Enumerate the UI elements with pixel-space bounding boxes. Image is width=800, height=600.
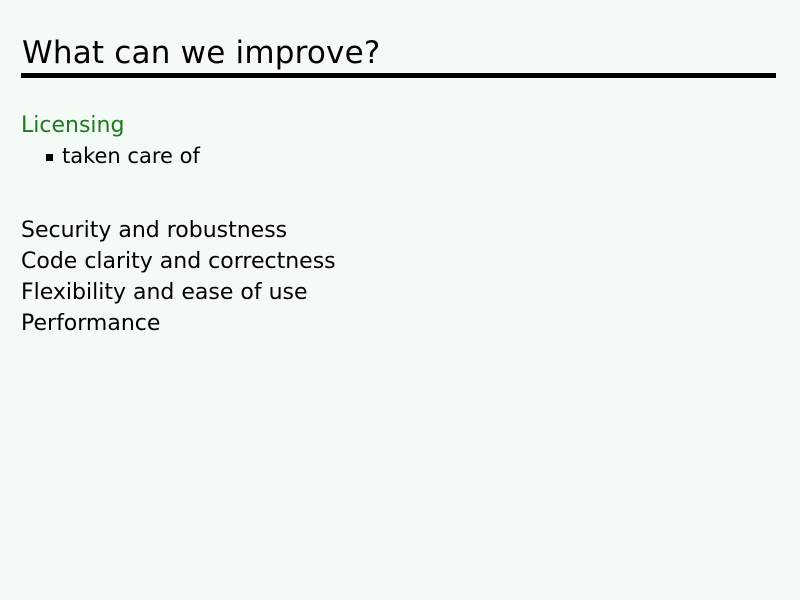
slide: What can we improve? Licensing taken car…	[0, 0, 800, 600]
section-heading-licensing: Licensing	[21, 110, 761, 141]
list-item: Performance	[21, 308, 761, 339]
list-item: Security and robustness	[21, 215, 761, 246]
section-spacer	[21, 172, 761, 215]
title-underline-rule	[21, 73, 776, 78]
improvement-areas-list: Security and robustness Code clarity and…	[21, 215, 761, 339]
title-block: What can we improve?	[22, 34, 778, 72]
page-title: What can we improve?	[22, 34, 778, 72]
list-item-label: taken care of	[62, 144, 200, 168]
list-item: taken care of	[21, 141, 761, 172]
list-item: Code clarity and correctness	[21, 246, 761, 277]
slide-body: Licensing taken care of Security and rob…	[21, 110, 761, 339]
list-item: Flexibility and ease of use	[21, 277, 761, 308]
square-bullet-icon	[46, 154, 53, 161]
